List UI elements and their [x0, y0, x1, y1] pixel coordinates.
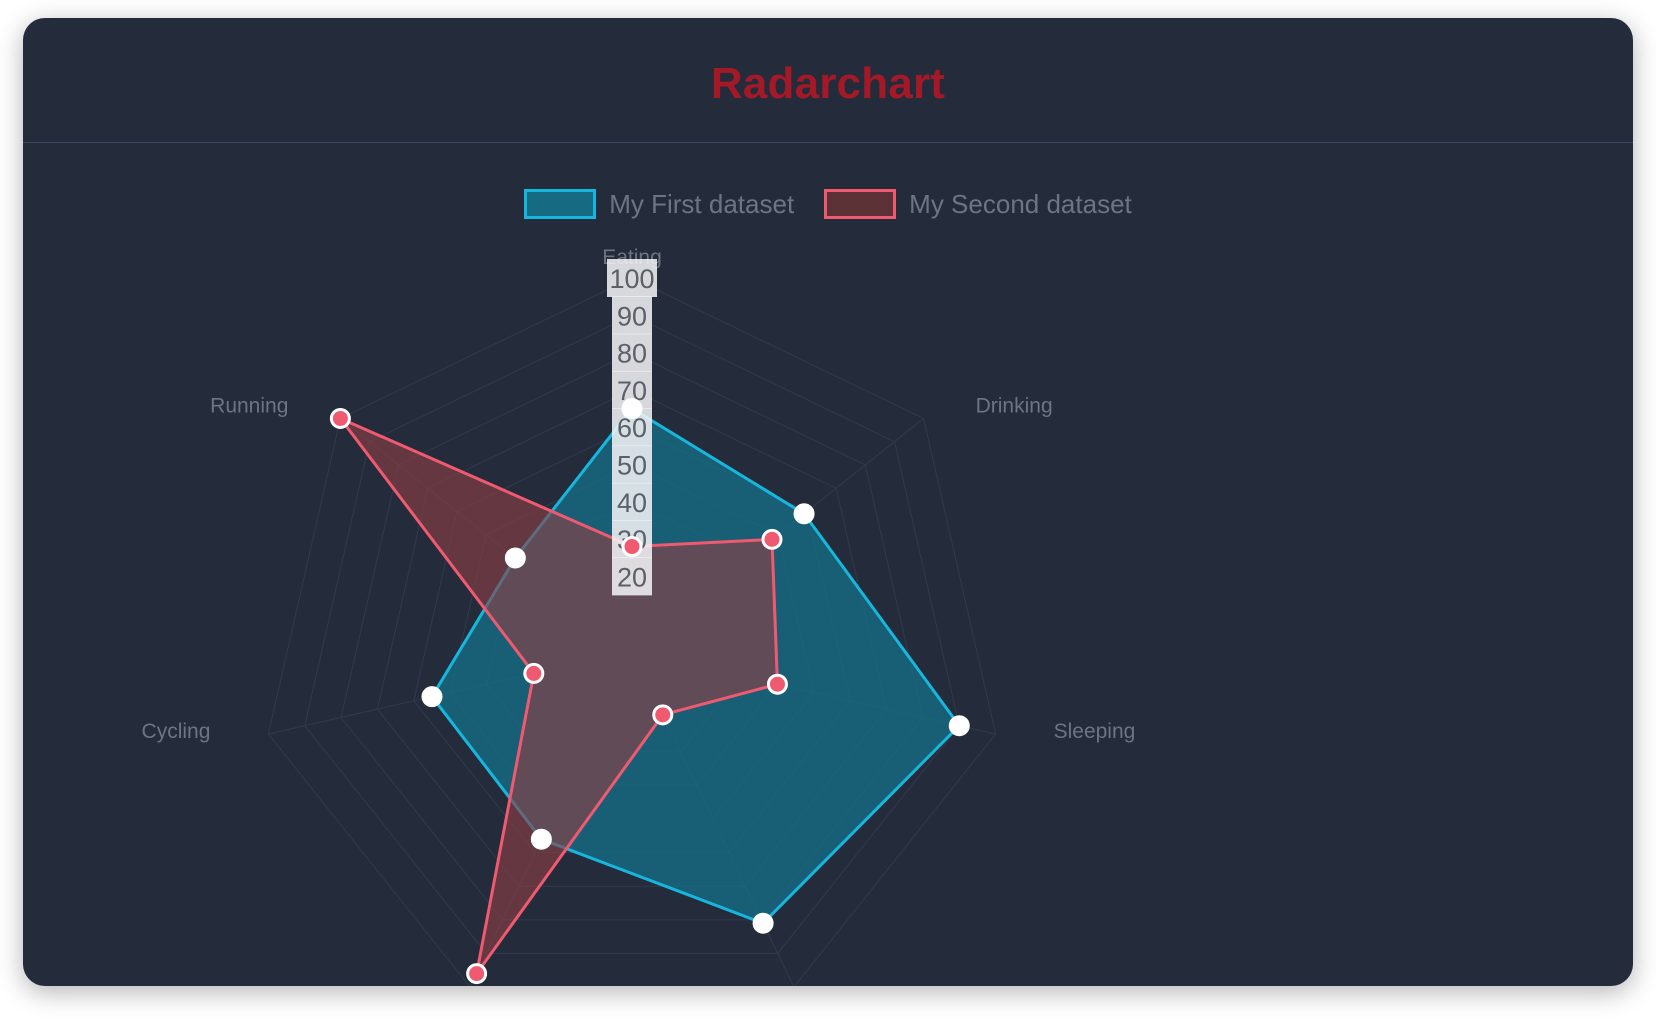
- radar-data-point[interactable]: [525, 664, 543, 682]
- radar-data-point[interactable]: [754, 914, 772, 932]
- radar-data-point[interactable]: [950, 717, 968, 735]
- radar-axis-label: Running: [210, 394, 288, 417]
- radar-axis-label: Drinking: [976, 394, 1053, 417]
- radar-data-point[interactable]: [763, 530, 781, 548]
- radar-data-point[interactable]: [423, 688, 441, 706]
- radar-tick-label: 80: [617, 339, 647, 369]
- radar-data-point[interactable]: [506, 549, 524, 567]
- page-title: Radarchart: [23, 58, 1633, 110]
- page-root: Radarchart My First dataset My Second da…: [0, 0, 1656, 1020]
- radar-axis-label: Cycling: [142, 720, 211, 743]
- card-header: Radarchart: [23, 18, 1633, 143]
- radar-data-point[interactable]: [468, 965, 486, 983]
- radar-data-point[interactable]: [768, 675, 786, 693]
- radar-data-point[interactable]: [532, 830, 550, 848]
- radar-data-point[interactable]: [331, 409, 349, 427]
- radar-axis-label: Sleeping: [1054, 720, 1136, 743]
- radar-data-point[interactable]: [623, 538, 641, 556]
- radar-tick-label: 90: [617, 301, 647, 331]
- radar-plot-area: EatingDrinkingSleepingDesigningCodingCyc…: [23, 144, 1633, 986]
- radar-data-point[interactable]: [623, 400, 641, 418]
- radar-data-point[interactable]: [654, 706, 672, 724]
- radar-data-point[interactable]: [795, 505, 813, 523]
- radar-tick-label: 20: [617, 562, 647, 592]
- radar-tick-label: 100: [609, 264, 654, 294]
- radar-tick-label: 40: [617, 488, 647, 518]
- chart-body: My First dataset My Second dataset Eatin…: [23, 144, 1633, 986]
- radar-chart-svg: EatingDrinkingSleepingDesigningCodingCyc…: [23, 144, 1633, 986]
- radar-tick-label: 50: [617, 451, 647, 481]
- radar-chart-card: Radarchart My First dataset My Second da…: [23, 18, 1633, 986]
